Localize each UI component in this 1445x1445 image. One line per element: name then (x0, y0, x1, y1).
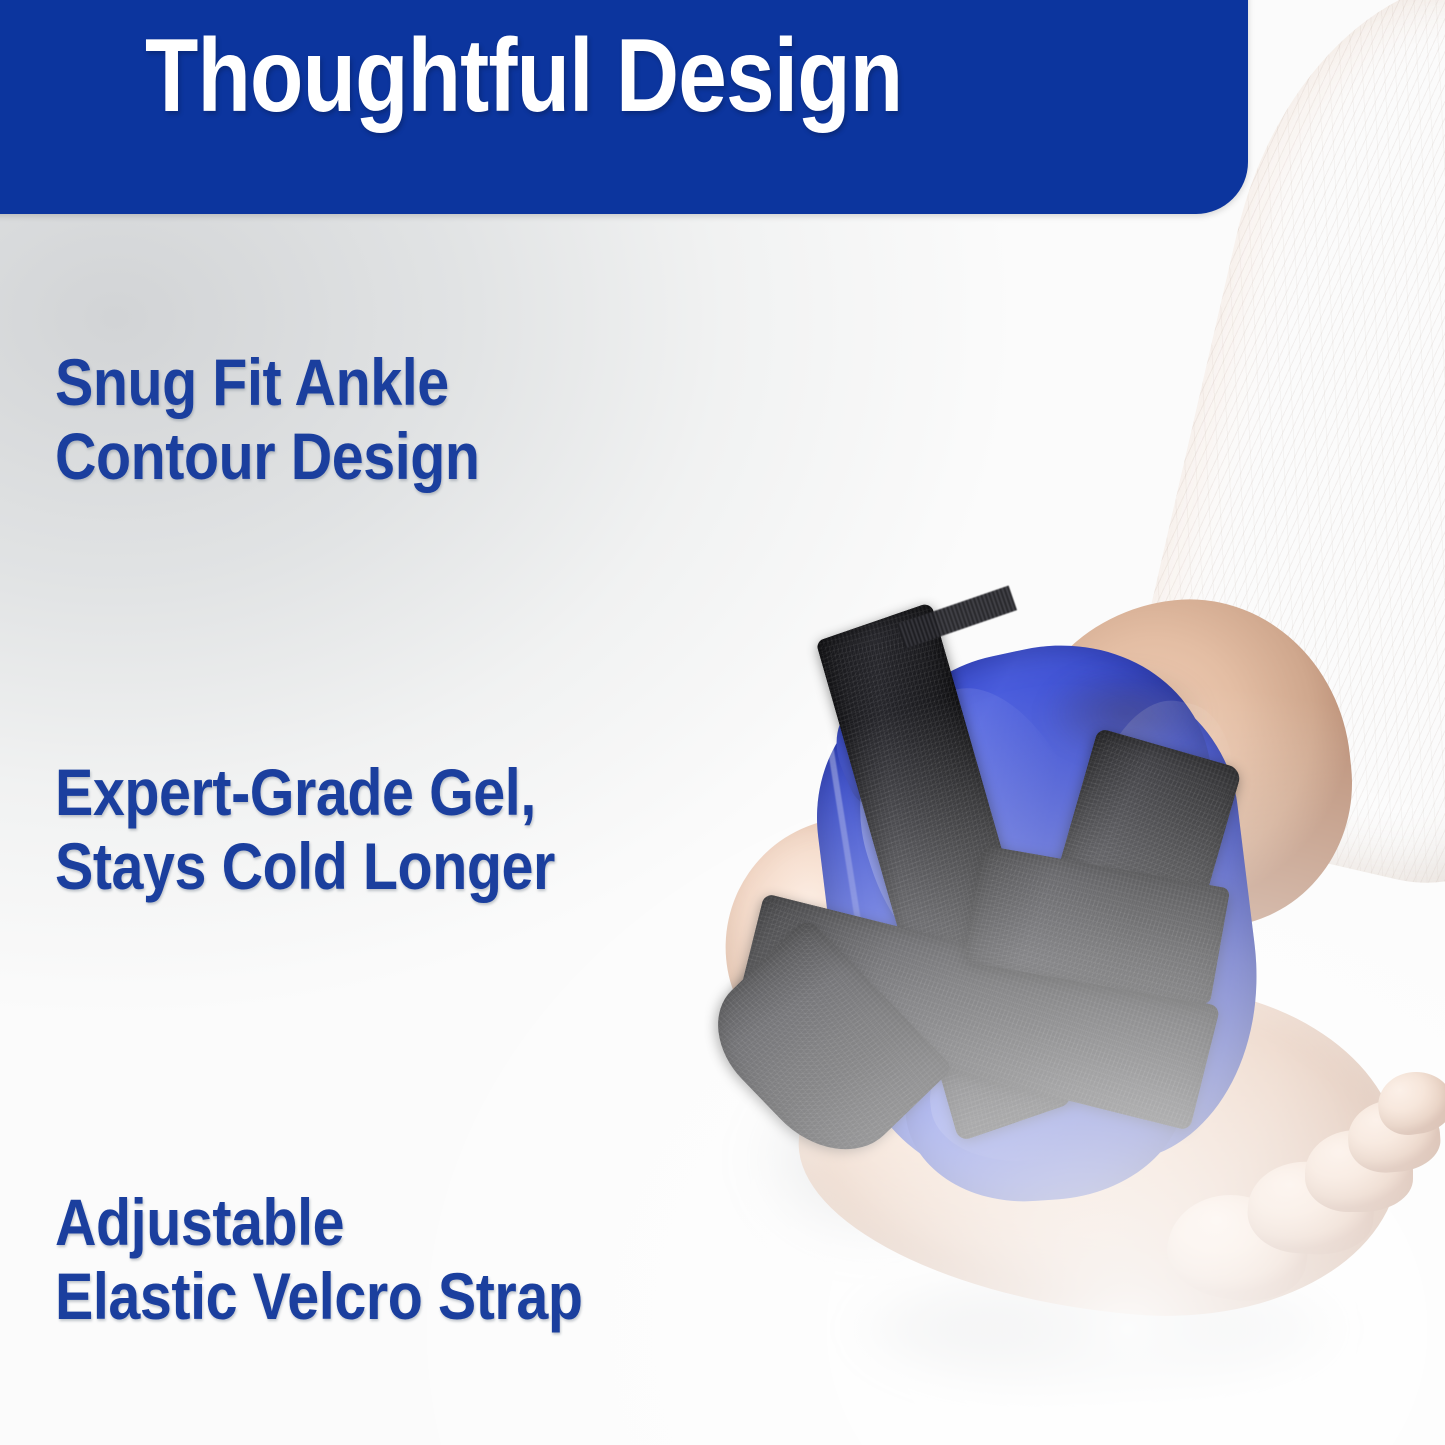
feature-1-line-1: Snug Fit Ankle (55, 345, 480, 419)
feature-callout-expert-gel: Expert-Grade Gel, Stays Cold Longer (55, 755, 555, 903)
product-feature-image: Freeze for at le desired t o not swallow… (0, 0, 1445, 1445)
velcro-strap-cut-end (897, 585, 1017, 648)
page-title: Thoughtful Design (145, 24, 1035, 128)
feature-callout-snug-fit: Snug Fit Ankle Contour Design (55, 345, 480, 493)
feature-2-line-1: Expert-Grade Gel, (55, 755, 555, 829)
feature-1-line-2: Contour Design (55, 419, 480, 493)
feature-3-line-2: Elastic Velcro Strap (55, 1259, 582, 1333)
feature-callout-velcro-strap: Adjustable Elastic Velcro Strap (55, 1185, 582, 1333)
feature-2-line-2: Stays Cold Longer (55, 829, 555, 903)
feature-3-line-1: Adjustable (55, 1185, 582, 1259)
header-banner: Thoughtful Design (0, 0, 1248, 214)
